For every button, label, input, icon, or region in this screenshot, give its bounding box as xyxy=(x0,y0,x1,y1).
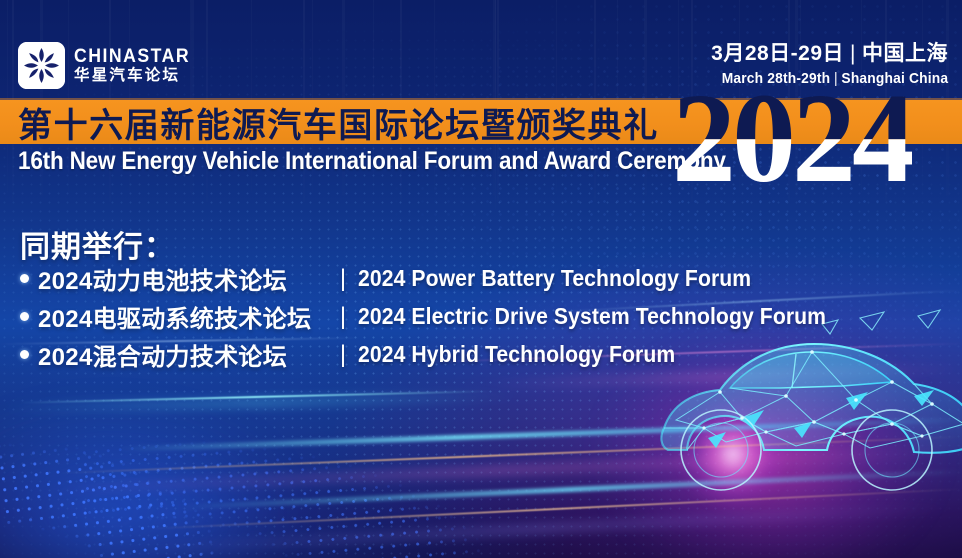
forum-separator: | xyxy=(328,341,358,369)
forum-name-cn: 2024动力电池技术论坛 xyxy=(38,261,328,296)
concurrent-heading: 同期举行： xyxy=(20,222,175,266)
forum-name-cn: 2024混合动力技术论坛 xyxy=(38,337,328,372)
brand-logo: CHINASTAR 华星汽车论坛 xyxy=(18,42,199,89)
conference-banner: CHINASTAR 华星汽车论坛 3月28日-29日|中国上海 March 28… xyxy=(0,0,962,558)
forum-list-item: 2024电驱动系统技术论坛 | 2024 Electric Drive Syst… xyxy=(20,302,867,331)
forum-list-item: 2024混合动力技术论坛 | 2024 Hybrid Technology Fo… xyxy=(20,340,867,369)
event-year: 2024 2024 xyxy=(672,88,962,188)
forum-separator: | xyxy=(328,265,358,293)
bullet-icon xyxy=(20,312,29,321)
car-rear-wheel xyxy=(681,410,761,490)
forum-list-item: 2024动力电池技术论坛 | 2024 Power Battery Techno… xyxy=(20,264,867,293)
date-separator-en: | xyxy=(830,70,841,87)
event-title-en: 16th New Energy Vehicle International Fo… xyxy=(18,146,726,176)
event-date-cn: 3月28日-29日 xyxy=(711,42,844,65)
forum-name-en: 2024 Hybrid Technology Forum xyxy=(358,341,675,368)
event-location-en: Shanghai China xyxy=(841,70,948,87)
event-date-en: March 28th-29th xyxy=(721,70,830,87)
event-date-location: 3月28日-29日|中国上海 March 28th-29th|Shanghai … xyxy=(702,42,948,88)
forum-name-en: 2024 Electric Drive System Technology Fo… xyxy=(358,303,826,330)
brand-name-cn: 华星汽车论坛 xyxy=(74,68,199,84)
event-location-cn: 中国上海 xyxy=(862,42,948,65)
forum-separator: | xyxy=(328,303,358,331)
bullet-icon xyxy=(20,350,29,359)
event-title-cn: 第十六届新能源汽车国际论坛暨颁奖典礼 xyxy=(18,99,659,145)
forum-name-en: 2024 Power Battery Technology Forum xyxy=(358,265,751,292)
concurrent-forum-list: 2024动力电池技术论坛 | 2024 Power Battery Techno… xyxy=(20,264,867,369)
date-separator-cn: | xyxy=(844,42,862,65)
forum-name-cn: 2024电驱动系统技术论坛 xyxy=(38,299,328,334)
bullet-icon xyxy=(20,274,29,283)
star-pinwheel-icon xyxy=(18,42,65,89)
brand-name-en: CHINASTAR xyxy=(74,47,190,66)
